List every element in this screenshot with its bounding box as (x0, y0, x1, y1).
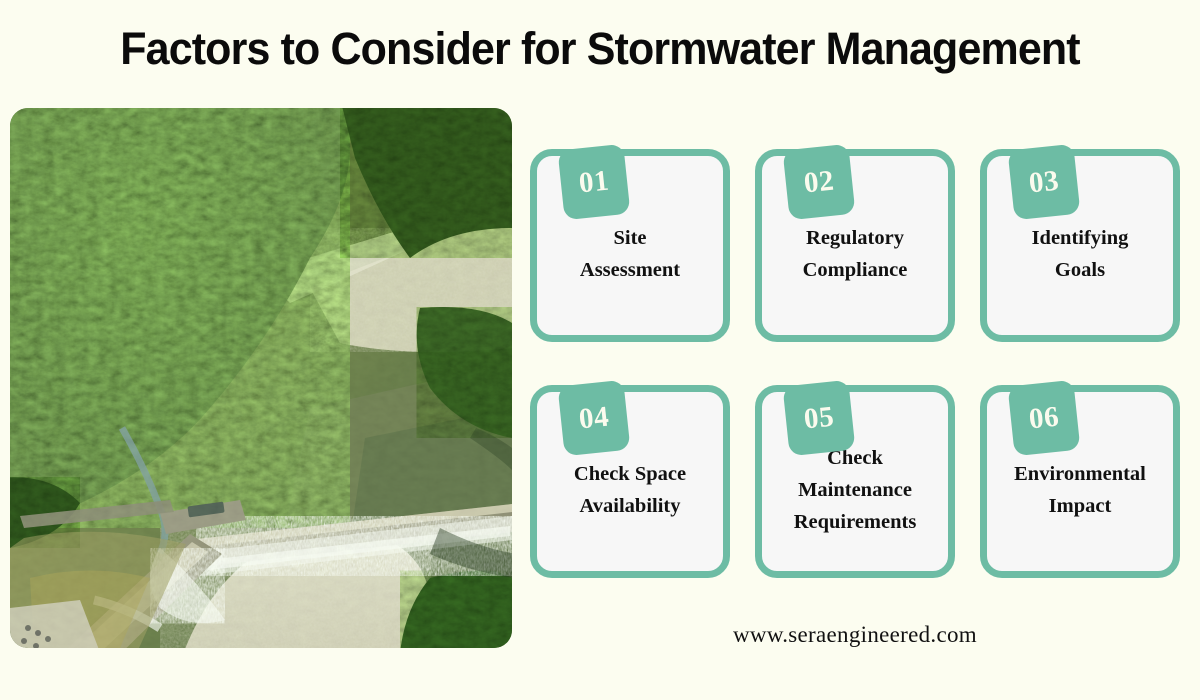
page-title: Factors to Consider for Stormwater Manag… (27, 26, 1173, 71)
factor-label-04: Check Space Availability (564, 458, 696, 522)
aerial-river-weir-photo (10, 108, 512, 648)
factor-badge-01: 01 (558, 144, 631, 221)
factor-number-01: 01 (578, 166, 611, 198)
factor-number-02: 02 (803, 166, 836, 198)
factor-badge-06: 06 (1008, 380, 1081, 457)
website-url[interactable]: www.seraengineered.com (530, 622, 1180, 648)
photo-illustration (10, 108, 512, 648)
factor-label-02: Regulatory Compliance (793, 222, 918, 286)
factor-badge-03: 03 (1008, 144, 1081, 221)
factor-badge-02: 02 (783, 144, 856, 221)
infographic-poster: Factors to Consider for Stormwater Manag… (0, 0, 1200, 700)
factor-number-06: 06 (1028, 402, 1061, 434)
factor-badge-05: 05 (783, 380, 856, 457)
factor-number-03: 03 (1028, 166, 1061, 198)
factor-badge-04: 04 (558, 380, 631, 457)
factor-number-04: 04 (578, 402, 611, 434)
factor-number-05: 05 (803, 402, 836, 434)
factor-label-01: Site Assessment (570, 222, 690, 286)
factor-label-03: Identifying Goals (1022, 222, 1139, 286)
factor-label-06: Environmental Impact (1004, 458, 1156, 522)
factor-label-05: Check Maintenance Requirements (784, 442, 927, 538)
